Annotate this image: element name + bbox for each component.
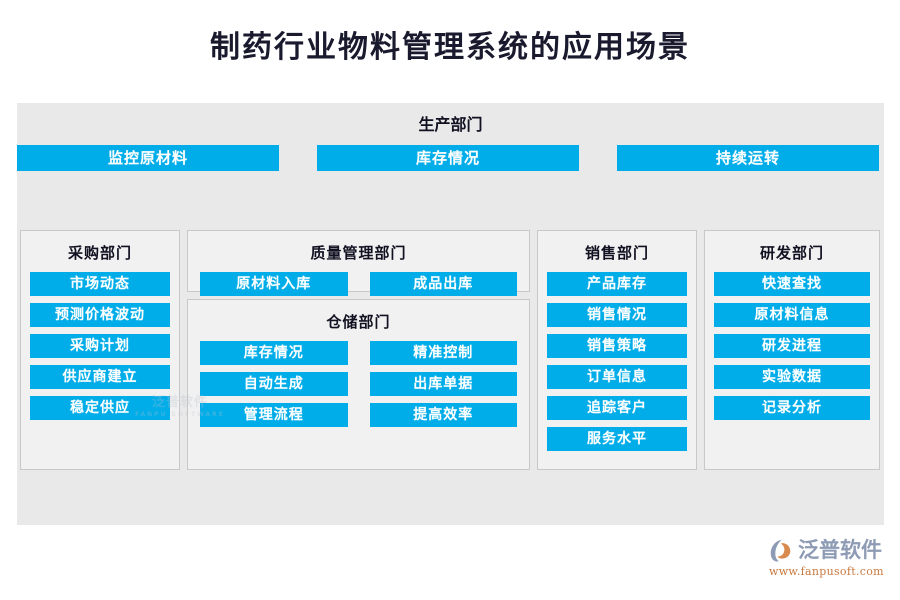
warehouse-button-2[interactable]: 自动生成 — [200, 372, 348, 396]
warehouse-button-3[interactable]: 出库单据 — [370, 372, 518, 396]
sales-title: 销售部门 — [538, 242, 696, 263]
production-button-0[interactable]: 监控原材料 — [17, 145, 279, 171]
purchasing-title: 采购部门 — [21, 242, 179, 263]
warehouse-button-5[interactable]: 提高效率 — [370, 403, 518, 427]
rd-button-0[interactable]: 快速查找 — [714, 272, 870, 296]
production-button-1[interactable]: 库存情况 — [317, 145, 579, 171]
purchasing-button-list: 市场动态 预测价格波动 采购计划 供应商建立 稳定供应 — [21, 272, 179, 430]
card-sales: 销售部门 产品库存 销售情况 销售策略 订单信息 追踪客户 服务水平 — [537, 230, 697, 470]
card-warehouse: 仓储部门 库存情况 精准控制 自动生成 出库单据 管理流程 提高效率 — [187, 299, 530, 470]
quality-button-1[interactable]: 成品出库 — [370, 272, 518, 296]
sales-button-5[interactable]: 服务水平 — [547, 427, 687, 451]
card-purchasing: 采购部门 市场动态 预测价格波动 采购计划 供应商建立 稳定供应 — [20, 230, 180, 470]
quality-button-0[interactable]: 原材料入库 — [200, 272, 348, 296]
warehouse-title: 仓储部门 — [188, 311, 529, 332]
purchasing-button-1[interactable]: 预测价格波动 — [30, 303, 170, 327]
warehouse-button-4[interactable]: 管理流程 — [200, 403, 348, 427]
sales-button-4[interactable]: 追踪客户 — [547, 396, 687, 420]
brand-row: 泛普软件 — [768, 537, 888, 564]
brand-url: www.fanpusoft.com — [769, 565, 888, 578]
quality-title: 质量管理部门 — [188, 242, 529, 263]
diagram-panel: 生产部门 监控原材料 库存情况 持续运转 采购部门 市场动态 预测价格波动 采购… — [17, 103, 884, 525]
purchasing-button-4[interactable]: 稳定供应 — [30, 396, 170, 420]
production-button-2[interactable]: 持续运转 — [617, 145, 879, 171]
rd-button-4[interactable]: 记录分析 — [714, 396, 870, 420]
rd-button-3[interactable]: 实验数据 — [714, 365, 870, 389]
rd-button-2[interactable]: 研发进程 — [714, 334, 870, 358]
sales-button-3[interactable]: 订单信息 — [547, 365, 687, 389]
rd-button-list: 快速查找 原材料信息 研发进程 实验数据 记录分析 — [705, 272, 879, 430]
page-title: 制药行业物料管理系统的应用场景 — [0, 22, 900, 66]
card-research-development: 研发部门 快速查找 原材料信息 研发进程 实验数据 记录分析 — [704, 230, 880, 470]
sales-button-list: 产品库存 销售情况 销售策略 订单信息 追踪客户 服务水平 — [538, 272, 696, 461]
warehouse-button-1[interactable]: 精准控制 — [370, 341, 518, 365]
brand-name: 泛普软件 — [798, 540, 882, 561]
purchasing-button-3[interactable]: 供应商建立 — [30, 365, 170, 389]
sales-button-0[interactable]: 产品库存 — [547, 272, 687, 296]
brand-logo: 泛普软件 www.fanpusoft.com — [768, 537, 888, 578]
production-department-title: 生产部门 — [17, 111, 884, 135]
card-quality-management: 质量管理部门 原材料入库 成品出库 — [187, 230, 530, 292]
rd-title: 研发部门 — [705, 242, 879, 263]
sales-button-2[interactable]: 销售策略 — [547, 334, 687, 358]
rd-button-1[interactable]: 原材料信息 — [714, 303, 870, 327]
sales-button-1[interactable]: 销售情况 — [547, 303, 687, 327]
purchasing-button-2[interactable]: 采购计划 — [30, 334, 170, 358]
purchasing-button-0[interactable]: 市场动态 — [30, 272, 170, 296]
warehouse-button-0[interactable]: 库存情况 — [200, 341, 348, 365]
warehouse-button-list: 库存情况 精准控制 自动生成 出库单据 管理流程 提高效率 — [188, 341, 529, 437]
fanpu-logo-icon — [768, 537, 795, 564]
